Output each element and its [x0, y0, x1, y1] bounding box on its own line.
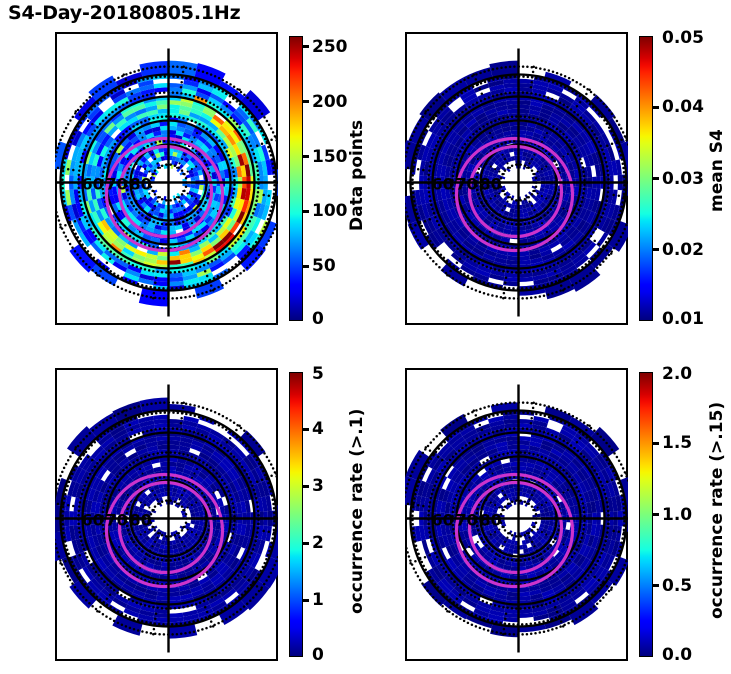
colorbar-tick: [653, 442, 659, 445]
colorbar-title: mean S4: [707, 129, 727, 212]
polar-plot-area: 607080: [55, 368, 278, 661]
colorbar-top-right: mean S4 0.010.020.030.040.05: [639, 36, 653, 321]
latitude-label: 80: [480, 511, 502, 530]
colorbar-tick-label: 0: [312, 645, 324, 665]
figure-canvas: S4-Day-20180805.1Hz 607080 Data points 0…: [0, 0, 731, 674]
colorbar-title: Data points: [347, 120, 367, 231]
colorbar-tick-label: 0.03: [662, 169, 704, 189]
polar-map-svg: 607080: [55, 368, 278, 661]
colorbar-tick-label: 0.01: [662, 309, 704, 329]
colorbar-tick: [303, 485, 309, 488]
colorbar-tick: [653, 513, 659, 516]
latitude-label: 70: [456, 175, 478, 194]
colorbar-tick: [653, 584, 659, 587]
colorbar-tick-label: 0: [312, 309, 324, 329]
polar-map-svg: 607080: [55, 32, 278, 325]
colorbar-tick: [303, 265, 309, 268]
colorbar-title: occurrence rate (>.1): [347, 409, 367, 614]
panel-top-left: 607080: [55, 32, 278, 325]
colorbar-tick: [303, 155, 309, 158]
colorbar-tick: [653, 248, 659, 251]
polar-map-svg: 607080: [405, 32, 628, 325]
colorbar-tick-label: 150: [312, 147, 348, 167]
colorbar-tick-label: 200: [312, 92, 348, 112]
colorbar-tick-label: 0.05: [662, 28, 704, 48]
colorbar-gradient: [639, 36, 653, 321]
latitude-label: 70: [456, 511, 478, 530]
latitude-label: 80: [130, 175, 152, 194]
polar-plot-area: 607080: [405, 32, 628, 325]
polar-plot-area: 607080: [405, 368, 628, 661]
latitude-labels: 607080: [432, 175, 502, 194]
colorbar-tick-label: 250: [312, 37, 348, 57]
colorbar-gradient: [289, 372, 303, 657]
colorbar-gradient: [639, 372, 653, 657]
colorbar-tick: [303, 210, 309, 213]
colorbar-bottom-right: occurrence rate (>.15) 0.00.51.01.52.0: [639, 372, 653, 657]
latitude-label: 60: [432, 511, 454, 530]
colorbar-tick-label: 1: [312, 590, 324, 610]
colorbar-tick-label: 0.0: [662, 645, 692, 665]
panel-bottom-right: 607080: [405, 368, 628, 661]
colorbar-tick: [303, 100, 309, 103]
latitude-label: 80: [130, 511, 152, 530]
polar-plot-area: 607080: [55, 32, 278, 325]
colorbar-tick-label: 50: [312, 256, 336, 276]
colorbar-bottom-left: occurrence rate (>.1) 012345: [289, 372, 303, 657]
colorbar-tick-label: 2.0: [662, 364, 692, 384]
colorbar-tick-label: 4: [312, 419, 324, 439]
latitude-label: 60: [432, 175, 454, 194]
colorbar-tick: [303, 599, 309, 602]
latitude-labels: 607080: [82, 511, 152, 530]
colorbar-tick-label: 2: [312, 533, 324, 553]
latitude-label: 60: [82, 511, 104, 530]
colorbar-tick: [653, 106, 659, 109]
colorbar-top-left: Data points 050100150200250: [289, 36, 303, 321]
figure-title: S4-Day-20180805.1Hz: [8, 2, 240, 24]
panel-top-right: 607080: [405, 32, 628, 325]
colorbar-gradient: [289, 36, 303, 321]
latitude-label: 70: [106, 511, 128, 530]
colorbar-tick: [303, 542, 309, 545]
colorbar-tick: [653, 177, 659, 180]
colorbar-tick: [303, 428, 309, 431]
polar-map-svg: 607080: [405, 368, 628, 661]
colorbar-tick-label: 3: [312, 476, 324, 496]
latitude-label: 60: [82, 175, 104, 194]
panel-bottom-left: 607080: [55, 368, 278, 661]
colorbar-title: occurrence rate (>.15): [707, 402, 727, 619]
colorbar-tick-label: 1.5: [662, 433, 692, 453]
colorbar-tick-label: 5: [312, 364, 324, 384]
colorbar-tick-label: 0.5: [662, 576, 692, 596]
colorbar-tick-label: 1.0: [662, 505, 692, 525]
latitude-labels: 607080: [82, 175, 152, 194]
colorbar-tick-label: 100: [312, 201, 348, 221]
colorbar-tick-label: 0.04: [662, 97, 704, 117]
latitude-labels: 607080: [432, 511, 502, 530]
latitude-label: 70: [106, 175, 128, 194]
colorbar-tick: [303, 45, 309, 48]
latitude-label: 80: [480, 175, 502, 194]
colorbar-tick-label: 0.02: [662, 240, 704, 260]
